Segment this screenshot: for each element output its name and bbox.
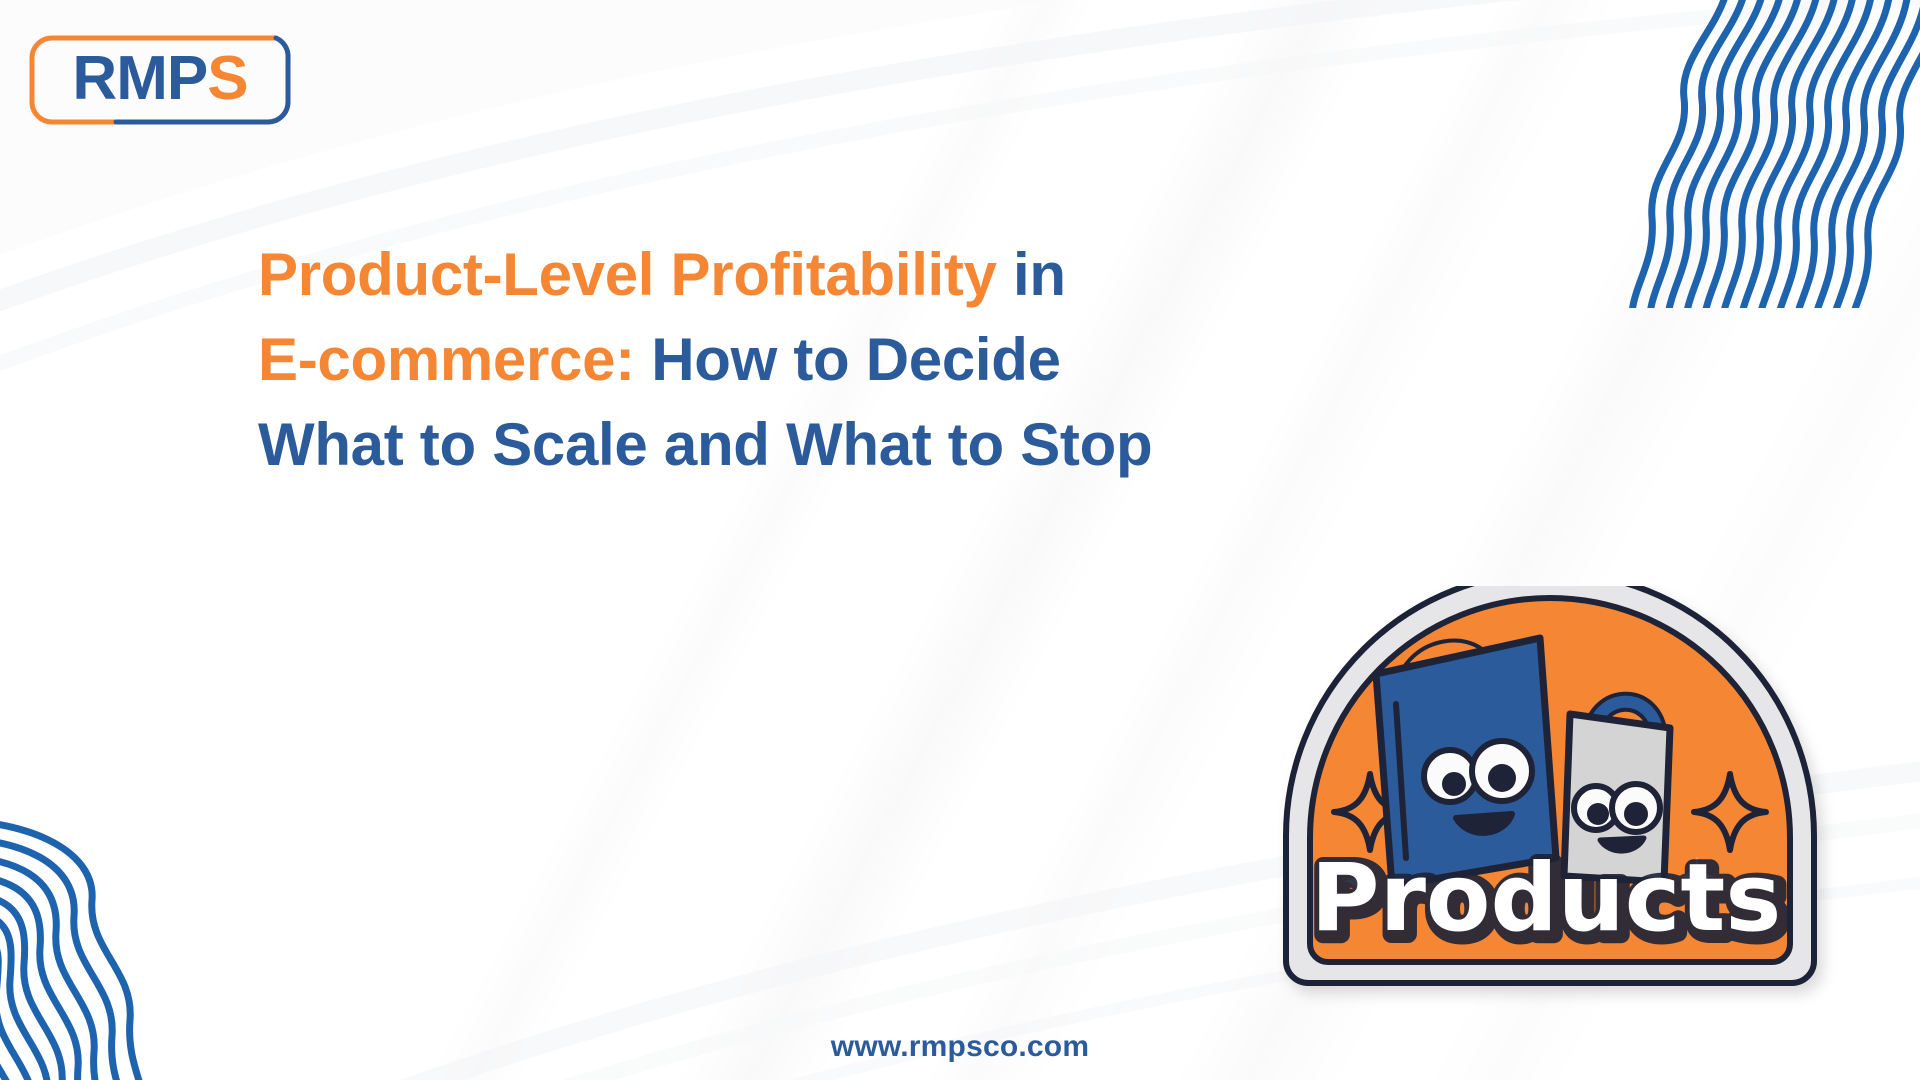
title-line2-rest: How to Decide [635,326,1061,393]
footer-website[interactable]: www.rmpsco.com [0,1030,1920,1064]
title-line1-rest: in [997,241,1066,308]
logo-wordmark: RMPS [24,30,296,130]
products-illustration: Products Products [1278,586,1878,1026]
page-title: Product-Level Profitability in E-commerc… [258,232,1488,488]
title-line1-highlight: Product-Level Profitability [258,241,997,308]
products-badge-label: Products Products [1311,844,1786,957]
products-badge-text: Products [1311,844,1782,953]
title-line3: What to Scale and What to Stop [258,411,1152,478]
rmps-logo[interactable]: RMPS [24,30,296,130]
title-line2-highlight: E-commerce: [258,326,635,393]
slide-canvas: RMPS Product-Level Profitability in E-co… [0,0,1920,1080]
logo-text-s: S [207,48,247,110]
logo-text-rmp: RMP [72,48,207,110]
wavy-lines-decoration-top-right [1588,0,1920,308]
